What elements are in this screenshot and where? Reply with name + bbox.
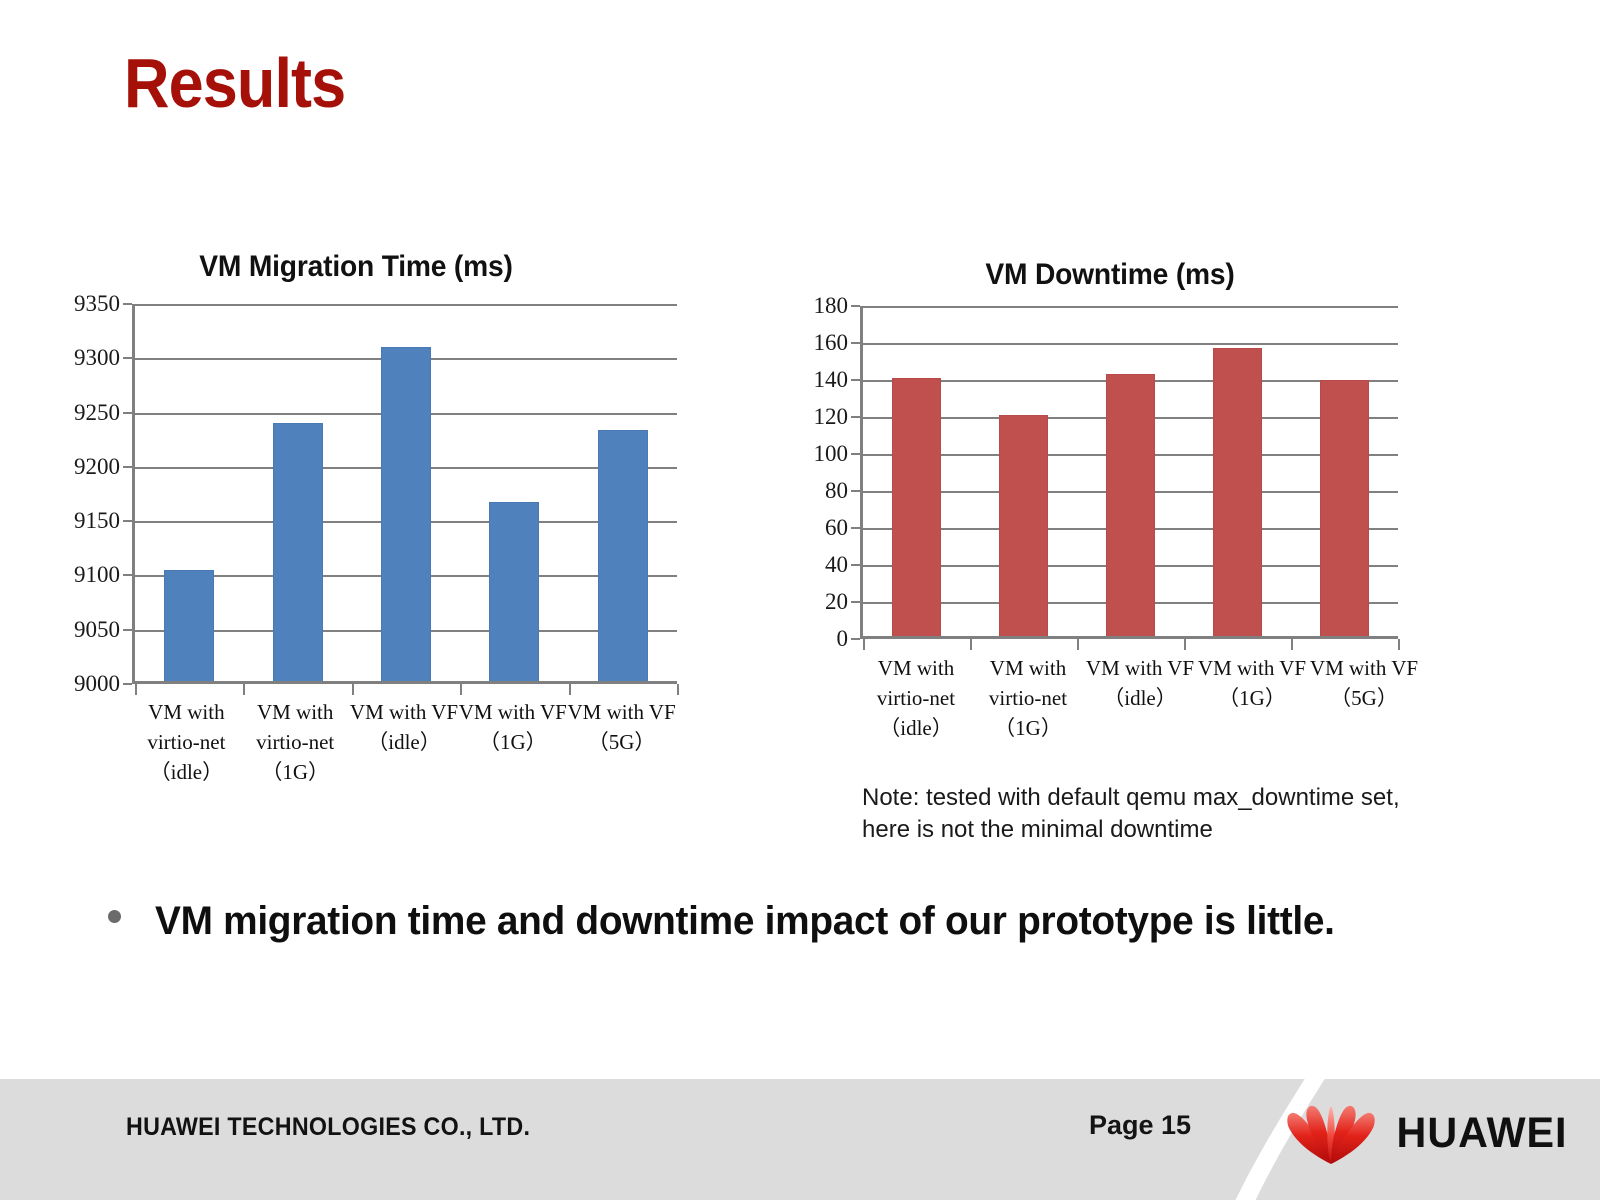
y-tick-mark bbox=[123, 574, 132, 576]
y-tick-mark bbox=[851, 638, 860, 640]
y-tick-mark bbox=[123, 629, 132, 631]
y-tick-label: 80 bbox=[825, 478, 860, 504]
x-axis-labels-downtime: VM with virtio-net （idle）VM with virtio-… bbox=[860, 654, 1420, 743]
bar bbox=[892, 378, 941, 639]
y-tick-mark bbox=[851, 342, 860, 344]
bar bbox=[1106, 374, 1155, 639]
x-tick-mark bbox=[1398, 639, 1400, 650]
x-tick-label: VM with virtio-net （idle） bbox=[132, 698, 241, 787]
bullet-list-item: VM migration time and downtime impact of… bbox=[108, 884, 1428, 958]
bar-slot bbox=[460, 304, 568, 684]
x-tick-mark bbox=[135, 684, 137, 695]
y-tick-label: 9050 bbox=[74, 617, 132, 643]
bar-slot bbox=[863, 306, 970, 639]
bar bbox=[1213, 348, 1262, 639]
y-tick-label: 9200 bbox=[74, 454, 132, 480]
x-ticks-downtime bbox=[863, 639, 1398, 651]
x-tick-mark bbox=[569, 684, 571, 695]
y-tick-label: 9300 bbox=[74, 345, 132, 371]
bar bbox=[489, 502, 539, 684]
y-tick-mark bbox=[123, 520, 132, 522]
x-tick-label: VM with virtio-net （1G） bbox=[241, 698, 350, 787]
x-tick-label: VM with VF （idle） bbox=[1084, 654, 1196, 743]
y-tick-label: 0 bbox=[837, 626, 861, 652]
x-tick-label: VM with virtio-net （1G） bbox=[972, 654, 1084, 743]
y-tick-mark bbox=[851, 453, 860, 455]
y-tick-mark bbox=[851, 305, 860, 307]
x-tick-label: VM with VF （1G） bbox=[458, 698, 567, 787]
y-tick-mark bbox=[123, 303, 132, 305]
huawei-logo: HUAWEI bbox=[1285, 1098, 1571, 1168]
y-tick-label: 180 bbox=[814, 293, 861, 319]
bar bbox=[273, 423, 323, 684]
y-tick-mark bbox=[851, 416, 860, 418]
y-tick-label: 140 bbox=[814, 367, 861, 393]
y-tick-mark bbox=[851, 564, 860, 566]
x-tick-label: VM with VF （idle） bbox=[350, 698, 459, 787]
y-tick-mark bbox=[123, 412, 132, 414]
y-tick-mark bbox=[851, 379, 860, 381]
x-tick-mark bbox=[970, 639, 972, 650]
page-title: Results bbox=[124, 48, 345, 118]
bar-series-downtime bbox=[863, 306, 1398, 639]
bar-slot bbox=[352, 304, 460, 684]
chart-vm-migration-time: VM Migration Time (ms) 90009050910091509… bbox=[36, 250, 676, 684]
x-tick-mark bbox=[1184, 639, 1186, 650]
y-tick-label: 20 bbox=[825, 589, 860, 615]
chart-title-migration: VM Migration Time (ms) bbox=[55, 250, 657, 284]
x-tick-mark bbox=[1291, 639, 1293, 650]
chart-title-downtime: VM Downtime (ms) bbox=[819, 258, 1402, 292]
chart-note-downtime: Note: tested with default qemu max_downt… bbox=[862, 782, 1422, 847]
page-number: Page 15 bbox=[1089, 1110, 1191, 1141]
y-tick-mark bbox=[123, 357, 132, 359]
y-tick-label: 9250 bbox=[74, 400, 132, 426]
plot-area-downtime bbox=[860, 306, 1398, 639]
y-tick-label: 9150 bbox=[74, 508, 132, 534]
x-tick-label: VM with VF （5G） bbox=[1308, 654, 1420, 743]
bar-series-migration bbox=[135, 304, 677, 684]
y-tick-mark bbox=[851, 490, 860, 492]
y-tick-mark bbox=[123, 683, 132, 685]
bullet-text: VM migration time and downtime impact of… bbox=[155, 884, 1335, 958]
x-tick-mark bbox=[243, 684, 245, 695]
footer-company-name: HUAWEI TECHNOLOGIES CO., LTD. bbox=[126, 1113, 530, 1142]
x-tick-mark bbox=[863, 639, 865, 650]
plot-area-migration bbox=[132, 304, 677, 684]
x-tick-mark bbox=[1077, 639, 1079, 650]
y-tick-label: 40 bbox=[825, 552, 860, 578]
bar-slot bbox=[1291, 306, 1398, 639]
y-tick-label: 9100 bbox=[74, 562, 132, 588]
x-axis-labels-migration: VM with virtio-net （idle）VM with virtio-… bbox=[132, 698, 676, 787]
x-tick-label: VM with VF （1G） bbox=[1196, 654, 1308, 743]
y-tick-label: 9350 bbox=[74, 291, 132, 317]
bar-slot bbox=[135, 304, 243, 684]
bar-slot bbox=[1184, 306, 1291, 639]
y-tick-mark bbox=[851, 601, 860, 603]
bar-slot bbox=[1077, 306, 1184, 639]
bar-slot bbox=[970, 306, 1077, 639]
y-tick-label: 120 bbox=[814, 404, 861, 430]
y-tick-mark bbox=[123, 466, 132, 468]
bar-slot bbox=[243, 304, 351, 684]
y-tick-label: 60 bbox=[825, 515, 860, 541]
x-ticks-migration bbox=[135, 684, 677, 696]
chart-vm-downtime: VM Downtime (ms) 02040608010012014016018… bbox=[800, 258, 1420, 639]
x-tick-mark bbox=[677, 684, 679, 695]
bullet-dot-icon bbox=[108, 910, 121, 923]
y-tick-label: 160 bbox=[814, 330, 861, 356]
bar bbox=[999, 415, 1048, 639]
x-tick-mark bbox=[352, 684, 354, 695]
x-tick-label: VM with VF （5G） bbox=[567, 698, 676, 787]
x-tick-label: VM with virtio-net （idle） bbox=[860, 654, 972, 743]
bar bbox=[164, 570, 214, 684]
huawei-flower-icon bbox=[1285, 1098, 1377, 1168]
y-tick-label: 100 bbox=[814, 441, 861, 467]
y-tick-mark bbox=[851, 527, 860, 529]
bar bbox=[381, 347, 431, 684]
y-tick-label: 9000 bbox=[74, 671, 132, 697]
bar bbox=[598, 430, 648, 684]
huawei-wordmark: HUAWEI bbox=[1397, 1109, 1568, 1158]
bar-slot bbox=[569, 304, 677, 684]
x-tick-mark bbox=[460, 684, 462, 695]
bar bbox=[1320, 380, 1369, 639]
